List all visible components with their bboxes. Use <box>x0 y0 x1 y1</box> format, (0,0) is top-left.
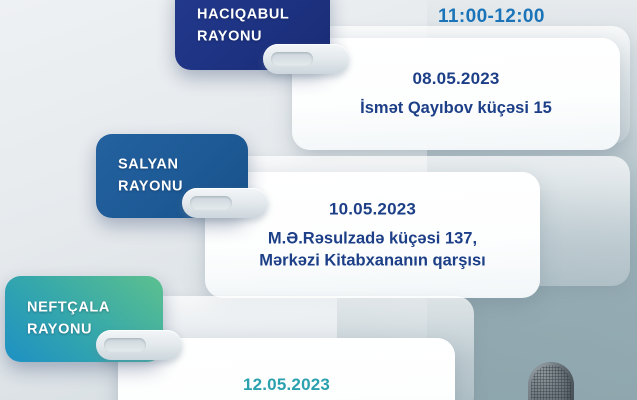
microphone-head <box>528 362 574 400</box>
poster-canvas: 08.05.2023 İsmət Qayıbov küçəsi 15 HACIQ… <box>0 0 637 400</box>
district-label-neftcala: NEFTÇALA RAYONU <box>27 297 110 342</box>
info-card-1-body: 08.05.2023 İsmət Qayıbov küçəsi 15 <box>292 68 620 120</box>
time-range-label: 11:00-12:00 <box>438 6 545 28</box>
district-label-salyan: SALYAN RAYONU <box>118 154 183 199</box>
microphone-icon <box>528 362 574 400</box>
microphone-grille <box>531 365 571 400</box>
event-address-2: M.Ə.Rəsulzadə küçəsi 137, Mərkəzi Kitabx… <box>219 229 526 272</box>
chain-link-icon-3 <box>96 330 182 360</box>
info-card-3-body: 12.05.2023 <box>118 374 455 400</box>
event-address-1: İsmət Qayıbov küçəsi 15 <box>306 98 606 119</box>
event-date-1: 08.05.2023 <box>306 68 606 89</box>
event-date-3: 12.05.2023 <box>132 374 441 395</box>
chain-link-icon-1 <box>263 44 349 74</box>
chain-link-icon-2 <box>182 188 268 218</box>
district-label-haciqabul: HACIQABUL RAYONU <box>197 4 289 49</box>
